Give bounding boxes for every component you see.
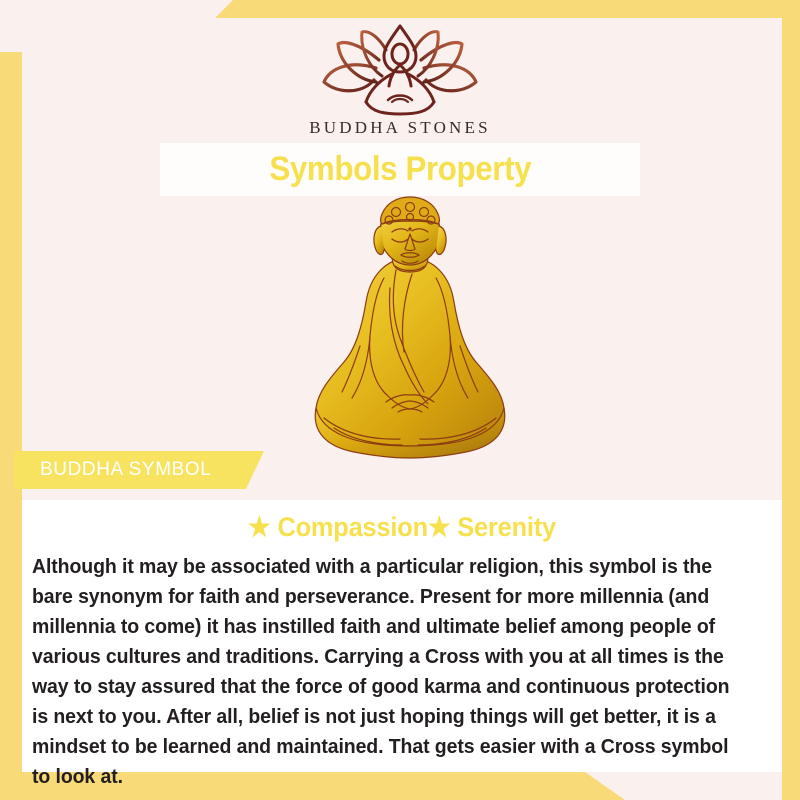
content-body: Although it may be associated with a par… <box>32 552 737 792</box>
content-subtitle: ★ Compassion★ Serenity <box>45 512 759 543</box>
content-panel: ★ Compassion★ Serenity Although it may b… <box>22 500 782 772</box>
lotus-meditation-logo-icon <box>0 24 800 116</box>
page-title: Symbols Property <box>269 150 531 189</box>
brand-name: BUDDHA STONES <box>0 118 800 138</box>
brand-logo: BUDDHA STONES <box>0 24 800 138</box>
left-decorative-band <box>0 52 22 800</box>
buddha-statue-icon <box>300 196 520 496</box>
ribbon-label: BUDDHA SYMBOL <box>40 459 211 481</box>
buddha-statue-image <box>300 196 520 496</box>
top-decorative-band <box>215 0 800 18</box>
buddha-symbol-ribbon: BUDDHA SYMBOL <box>14 451 264 489</box>
title-band: Symbols Property <box>160 143 640 196</box>
poster-root: BUDDHA STONES Symbols Property <box>0 0 800 800</box>
